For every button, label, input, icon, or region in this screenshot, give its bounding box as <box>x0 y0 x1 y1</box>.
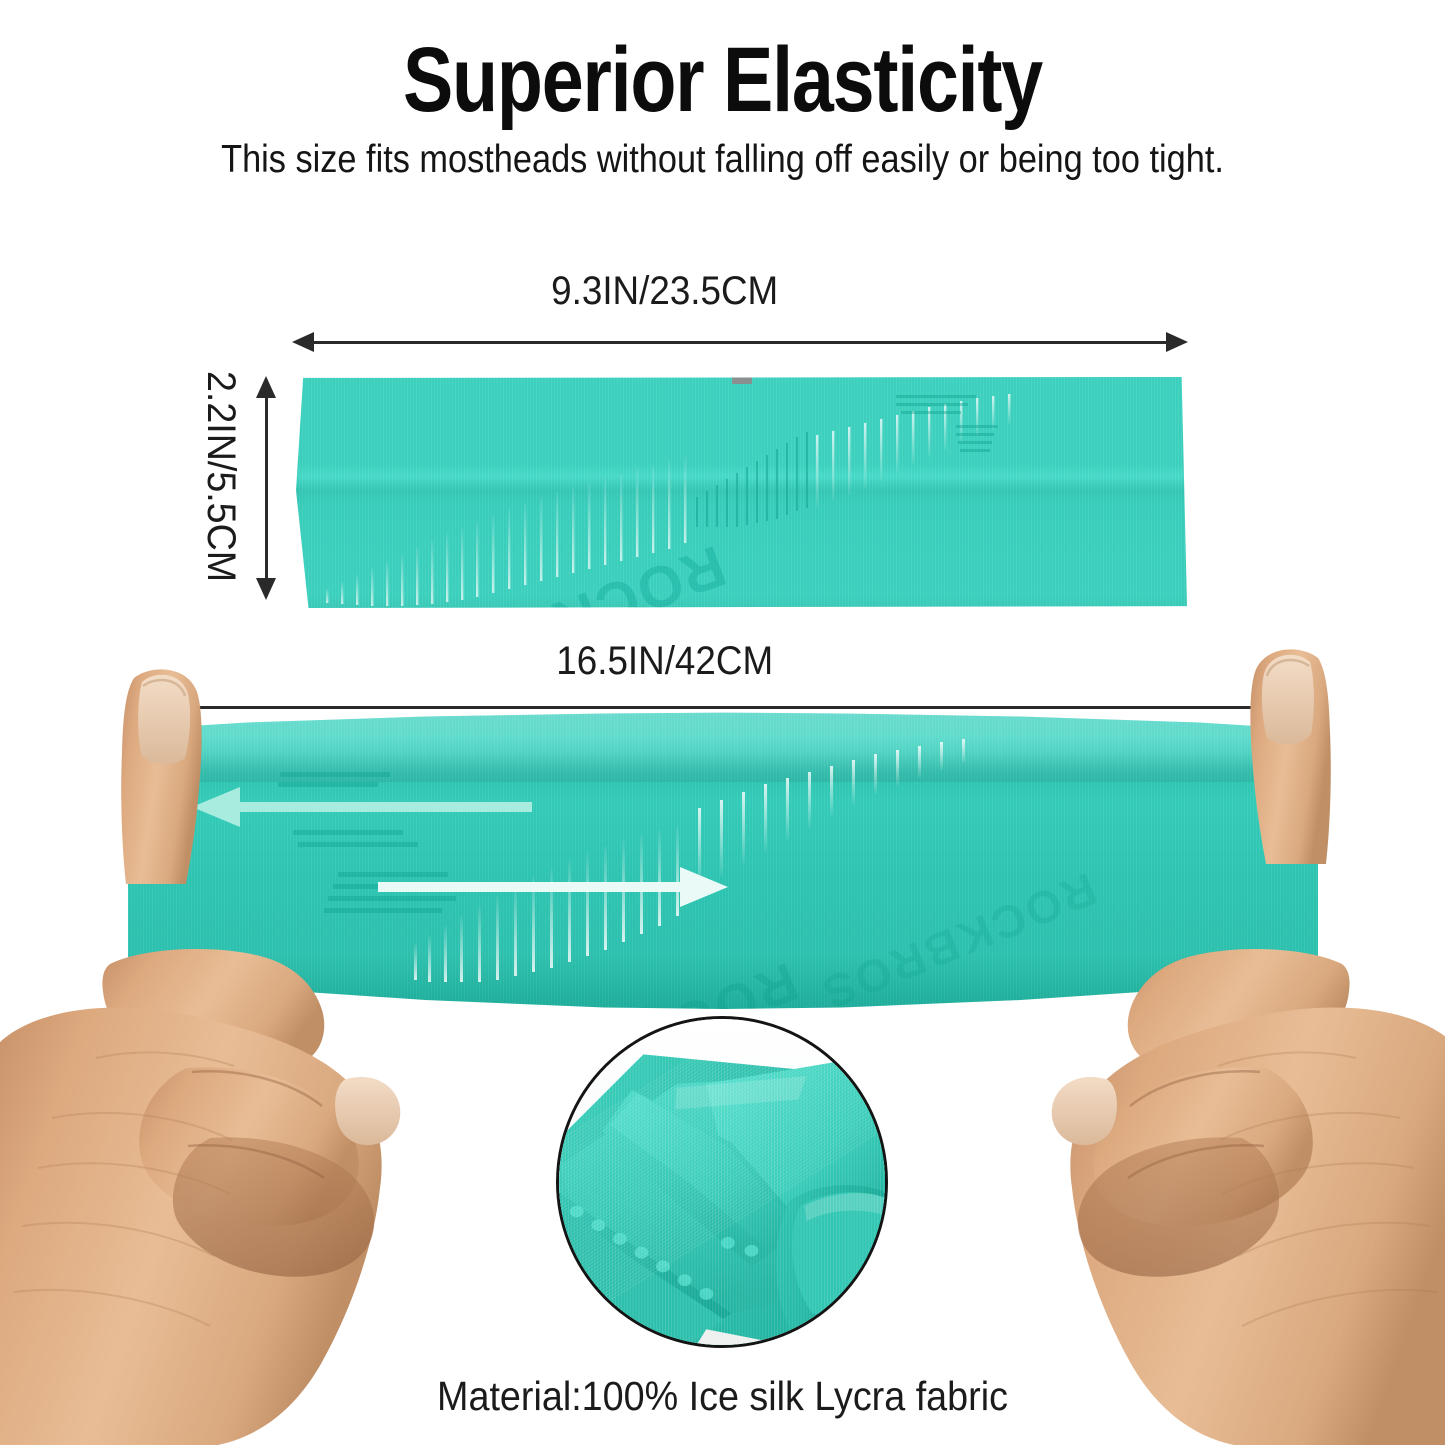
arrow-shaft <box>378 882 682 892</box>
flat-height-label: 2.2IN/5.5CM <box>191 371 243 597</box>
flat-height-arrow-icon <box>255 376 277 600</box>
arrow-head-right-icon <box>1166 332 1188 352</box>
arrow-shaft <box>303 341 1177 344</box>
stretched-width-label: 16.5IN/42CM <box>0 639 1329 684</box>
brand-emboss-text-stretched: ROCKBROS <box>469 951 806 1012</box>
index-nail <box>335 1077 400 1145</box>
material-caption: Material:100% Ice silk Lycra fabric <box>58 1373 1387 1420</box>
page-subtitle: This size fits mostheads without falling… <box>87 140 1359 181</box>
flat-width-label: 9.3IN/23.5CM <box>0 269 1329 314</box>
brand-emboss-text-stretched-2: ROCKBROS <box>813 863 1104 1012</box>
fabric-closeup-inset <box>556 1016 888 1348</box>
arrow-head-right-icon <box>680 867 728 907</box>
stretch-arrow-right-icon <box>378 872 728 902</box>
arrow-head-right-icon <box>1270 697 1292 717</box>
flat-width-arrow-icon <box>292 331 1188 353</box>
ring-finger <box>173 1137 374 1276</box>
emboss-pattern: ROCKBROS <box>296 377 1187 608</box>
arrow-head-down-icon <box>256 578 276 600</box>
headband-stretched: ROCKBROS ROCKBROS <box>128 712 1318 1012</box>
middle-finger <box>1093 1067 1313 1226</box>
care-tag <box>732 377 752 384</box>
arrow-head-left-icon <box>192 787 240 827</box>
stretch-emboss-pattern: ROCKBROS ROCKBROS <box>128 712 1318 1012</box>
index-nail <box>1052 1077 1117 1145</box>
headband-flat: ROCKBROS <box>296 377 1187 608</box>
page-title: Superior Elasticity <box>130 34 1315 126</box>
ring-finger <box>1078 1137 1279 1276</box>
product-infographic: Superior Elasticity This size fits mosth… <box>0 0 1445 1445</box>
arrow-shaft <box>265 387 268 589</box>
folded-fabric-photo <box>559 1019 885 1345</box>
arrow-shaft <box>238 802 532 812</box>
stretch-arrow-left-icon <box>192 792 532 822</box>
arrow-shaft <box>144 706 1281 709</box>
middle-finger <box>139 1067 359 1226</box>
brand-emboss-text: ROCKBROS <box>379 533 734 608</box>
